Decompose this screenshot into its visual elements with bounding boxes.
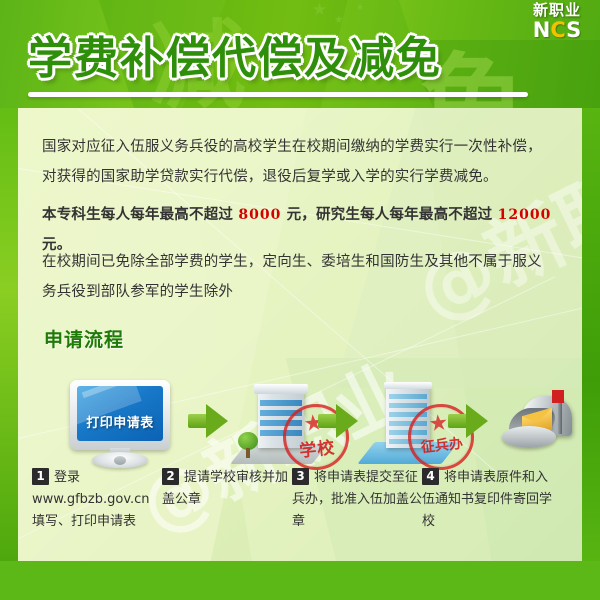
monitor-screen: 打印申请表 [77, 386, 163, 441]
stamp-star-icon-2: ★ [428, 412, 450, 436]
tower-roof [384, 382, 432, 389]
monitor-bezel: 打印申请表 [70, 380, 170, 450]
brand-logo[interactable]: 新职业 NCS [520, 2, 594, 44]
step-item-4: 4将申请表原件和入伍通知书复印件寄回学校 [422, 466, 552, 532]
building-floor-1 [260, 400, 302, 406]
monitor-base-dial [114, 456, 126, 465]
application-flow-diagram: 打印申请表 ★ 学校 [18, 378, 582, 478]
arrow-head [336, 404, 358, 438]
title-underline [28, 92, 528, 97]
logo-letter-c: C [550, 18, 566, 42]
logo-chinese-text: 新职业 [520, 2, 594, 19]
paragraph-exclusions: 在校期间已免除全部学费的学生，定向生、委培生和国防生及其他不属于服义务兵役到部队… [42, 247, 542, 307]
arrow-right-icon-3 [448, 404, 488, 438]
mailbox-flag [552, 390, 564, 403]
amount-text-mid: 元，研究生每人每年最高不超过 [281, 207, 497, 223]
section-title-flow: 申请流程 [44, 325, 124, 352]
computer-monitor-icon[interactable]: 打印申请表 [70, 380, 170, 466]
amount-text-pre: 本专科生每人每年最高不超过 [42, 207, 238, 223]
step-number-3: 3 [292, 468, 309, 485]
tree-trunk [246, 448, 250, 458]
arrow-right-icon-1 [188, 404, 228, 438]
step-text-3: 将申请表提交至征兵办，批准入伍加盖公章 [292, 470, 422, 529]
amount-undergrad: 8000 [238, 207, 281, 223]
header-banner: 减 免 ★ ★ ★ 学费补偿代偿及减免 新职业 NCS [0, 0, 600, 108]
infographic-poster: 减 免 ★ ★ ★ 学费补偿代偿及减免 新职业 NCS @新职业 @新职业 @新… [0, 0, 600, 600]
step-item-1: 1登录www.gfbzb.gov.cn填写、打印申请表 [32, 466, 162, 532]
step-text-4: 将申请表原件和入伍通知书复印件寄回学校 [422, 470, 552, 529]
step-number-1: 1 [32, 468, 49, 485]
step-number-2: 2 [162, 468, 179, 485]
tower-floor-1 [389, 394, 427, 399]
tower-floor-2 [389, 403, 427, 408]
star-large-icon: ★ [312, 2, 327, 19]
paragraph-policy-summary: 国家对应征入伍服义务兵役的高校学生在校期间缴纳的学费实行一次性补偿，对获得的国家… [42, 132, 542, 192]
star-small-icon-2: ★ [356, 4, 364, 13]
logo-ncs-text: NCS [520, 19, 594, 41]
building-roof [254, 384, 308, 394]
logo-letter-n: N [533, 18, 551, 42]
arrow-right-icon-2 [318, 404, 358, 438]
page-title: 学费补偿代偿及减免 [28, 22, 442, 86]
step-caption-list: 1登录www.gfbzb.gov.cn填写、打印申请表 2提请学校审核并加盖公章… [18, 466, 582, 558]
step-item-3: 3将申请表提交至征兵办，批准入伍加盖公章 [292, 466, 422, 532]
step-item-2: 2提请学校审核并加盖公章 [162, 466, 292, 510]
arrow-head [206, 404, 228, 438]
left-edge-bar [0, 108, 18, 561]
step-number-4: 4 [422, 468, 439, 485]
mailbox-door [502, 426, 556, 448]
amount-graduate: 12000 [498, 207, 552, 223]
step-text-1: 登录www.gfbzb.gov.cn填写、打印申请表 [32, 470, 150, 529]
mailbox-icon[interactable] [496, 386, 588, 464]
monitor-screen-label: 打印申请表 [77, 412, 163, 431]
arrow-head [466, 404, 488, 438]
right-edge-bar [582, 108, 600, 561]
logo-letter-s: S [566, 18, 581, 42]
step-text-2: 提请学校审核并加盖公章 [162, 470, 288, 507]
